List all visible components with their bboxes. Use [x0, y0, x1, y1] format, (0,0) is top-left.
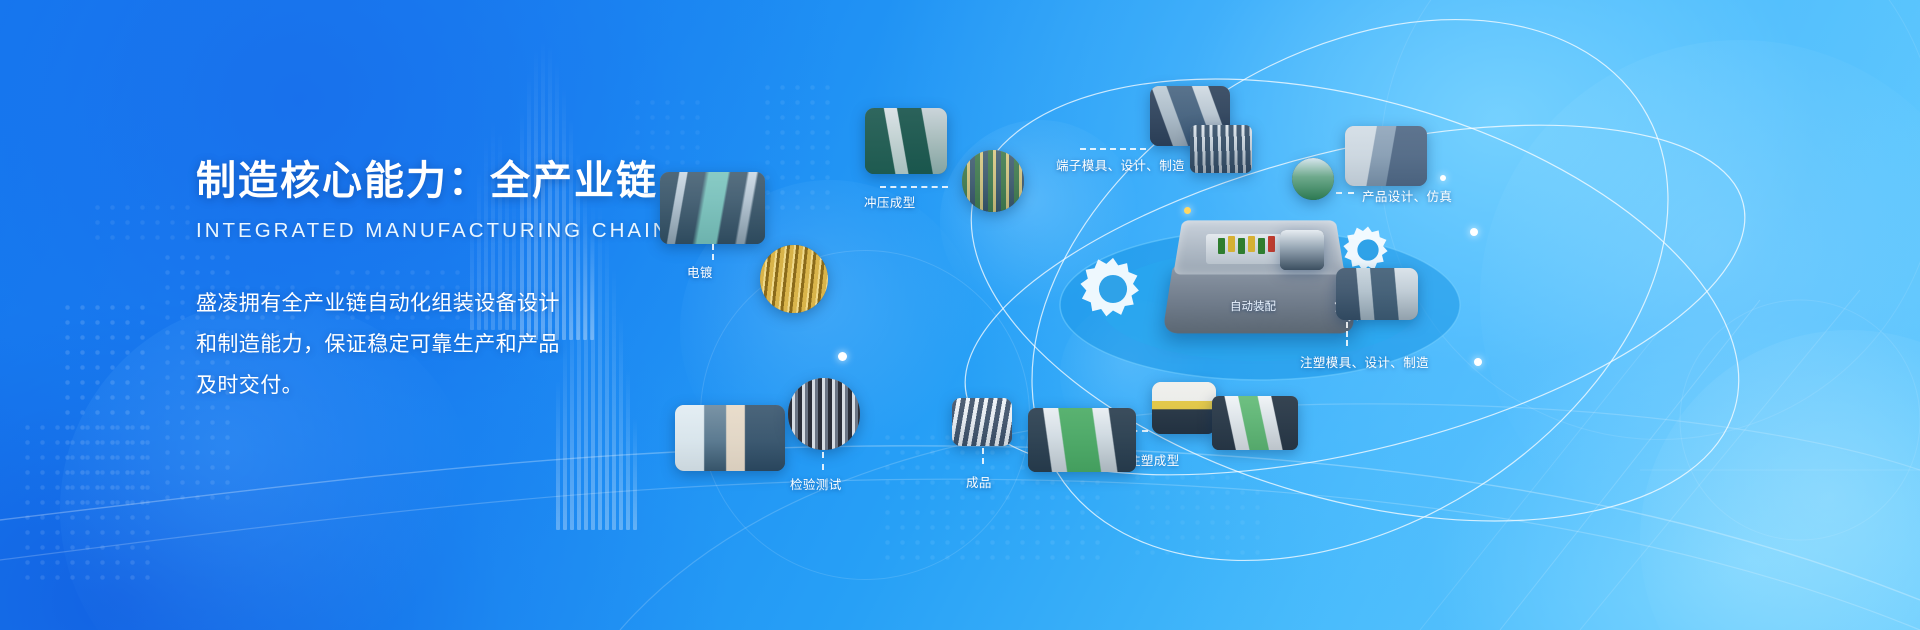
node-thumb-inspection[interactable] — [675, 405, 785, 471]
node-thumb-injection-mold[interactable] — [1336, 268, 1418, 320]
decor-dotgrid — [60, 300, 150, 510]
machine-chip — [1268, 236, 1275, 252]
photo — [1280, 230, 1324, 270]
photo-detail — [962, 150, 1024, 212]
node-thumb-connectors — [788, 378, 860, 450]
node-thumb-molding-line — [1212, 396, 1298, 450]
node-thumb-product-design[interactable] — [1345, 126, 1427, 186]
connector — [1080, 148, 1146, 150]
node-label-stamping: 冲压成型 — [864, 192, 916, 211]
node-thumb-finished-goods[interactable] — [952, 398, 1012, 446]
node-thumb-3d-model — [1292, 158, 1334, 200]
connector — [1346, 322, 1348, 346]
photo — [760, 245, 828, 313]
node-thumb-electroplating[interactable] — [660, 172, 765, 244]
connector — [712, 244, 714, 260]
node-thumb-mold-block — [1280, 230, 1324, 270]
photo-detail — [952, 398, 1012, 446]
photo-detail — [1190, 125, 1252, 173]
node-label-finished-goods: 成品 — [966, 472, 992, 491]
photo-detail — [1345, 126, 1427, 186]
photo-detail — [865, 108, 947, 174]
gear-icon — [1076, 252, 1150, 326]
machine-chip — [1228, 236, 1235, 252]
node-label-product-design: 产品设计、仿真 — [1362, 186, 1452, 205]
machine-chip — [1238, 238, 1245, 254]
banner-stage: 制造核心能力：全产业链 INTEGRATED MANUFACTURING CHA… — [0, 0, 1920, 630]
manufacturing-chain-diagram: 自动装配 电镀 — [780, 0, 1920, 630]
connector — [822, 452, 824, 470]
orbit-dot — [1470, 228, 1478, 236]
automated-assembly-machine: 自动装配 — [1168, 212, 1358, 342]
connector — [982, 448, 984, 464]
connector — [880, 186, 948, 188]
orbit-dot — [1474, 358, 1482, 366]
page-body-text: 盛凌拥有全产业链自动化组装设备设计和制造能力，保证稳定可靠生产和产品及时交付。 — [196, 283, 568, 406]
orbit-dot — [1440, 175, 1446, 181]
node-thumb-terminal-part — [1190, 125, 1252, 173]
photo-detail — [660, 172, 765, 244]
decor-dotgrid — [90, 200, 200, 245]
machine-chip — [1218, 238, 1225, 254]
connector — [1336, 192, 1354, 194]
photo — [788, 378, 860, 450]
decor-dotgrid — [20, 420, 150, 590]
node-label-inspection: 检验测试 — [790, 474, 842, 493]
machine-label: 自动装配 — [1230, 298, 1276, 314]
machine-chip — [1248, 236, 1255, 252]
photo — [1292, 158, 1334, 200]
orbit-dot — [838, 352, 847, 361]
node-label-electroplating: 电镀 — [687, 262, 713, 281]
node-label-terminal-mold: 端子模具、设计、制造 — [1056, 155, 1185, 174]
node-thumb-stamping-die — [962, 150, 1024, 212]
node-thumb-assembly-line — [1028, 408, 1136, 472]
photo-detail — [1152, 382, 1216, 434]
photo-detail — [675, 405, 785, 471]
photo-detail — [1336, 268, 1418, 320]
machine-chip — [1258, 238, 1265, 254]
node-thumb-gold-disc — [760, 245, 828, 313]
photo-detail — [1028, 408, 1136, 472]
photo-detail — [1212, 396, 1298, 450]
node-label-injection-mold: 注塑模具、设计、制造 — [1300, 352, 1429, 371]
node-thumb-stamping[interactable] — [865, 108, 947, 174]
node-thumb-injection-forming[interactable] — [1152, 382, 1216, 434]
